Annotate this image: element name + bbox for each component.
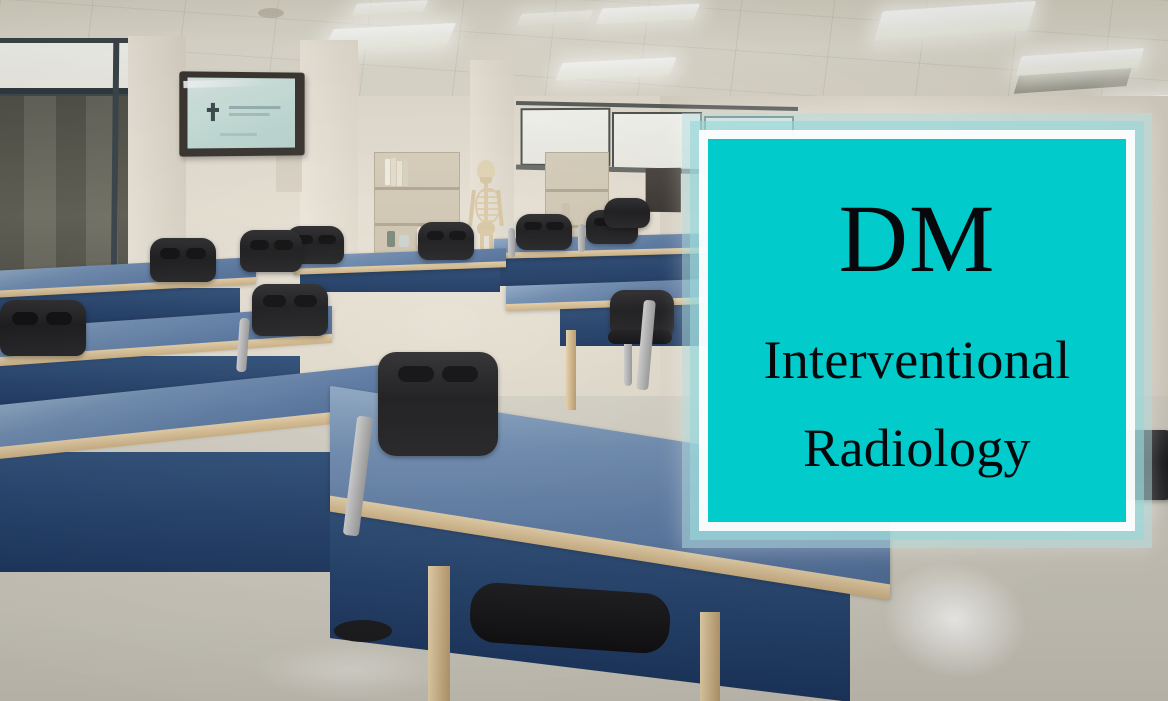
- screenshot-root: DM Interventional Radiology: [0, 0, 1168, 701]
- shelf-board: [546, 189, 608, 192]
- wall-speaker: [646, 168, 681, 213]
- container: [387, 231, 395, 247]
- chair-mesh-opening: [160, 248, 180, 259]
- desk-leg: [700, 612, 720, 701]
- chair-mesh-opening: [250, 240, 269, 250]
- chair-mesh-opening: [12, 312, 38, 325]
- container: [399, 235, 409, 247]
- chair-mesh-opening: [524, 222, 542, 230]
- chair-frame: [508, 228, 515, 258]
- monitor-text-line: [220, 133, 257, 136]
- cross-logo-icon: [207, 103, 219, 121]
- monitor-screen: [188, 77, 295, 148]
- title-card-fill: DM Interventional Radiology: [708, 139, 1126, 522]
- book: [397, 161, 402, 186]
- chair-backrest: [604, 198, 650, 228]
- desk-leg: [566, 330, 576, 410]
- chair-mesh-opening: [398, 366, 434, 382]
- jaw: [480, 177, 492, 184]
- chair-mesh-opening: [449, 231, 466, 240]
- chair-backrest: [150, 238, 216, 282]
- title-card-outer-band: DM Interventional Radiology: [690, 121, 1144, 540]
- book: [403, 159, 408, 186]
- monitor-text-line: [229, 113, 270, 116]
- chair-mesh-opening: [318, 235, 336, 244]
- desk-leg: [428, 566, 450, 701]
- chair-backrest: [240, 230, 302, 272]
- title-card-white-ring: DM Interventional Radiology: [699, 130, 1135, 531]
- shelf-board: [375, 187, 459, 190]
- book: [391, 158, 396, 186]
- chair-mesh-opening: [46, 312, 72, 325]
- chair-mesh-opening: [442, 366, 478, 382]
- wall-monitor: [179, 71, 304, 156]
- course-name-line-2: Radiology: [708, 421, 1126, 475]
- title-card: DM Interventional Radiology: [682, 113, 1152, 548]
- chair-mesh-opening: [274, 240, 293, 250]
- chair-mesh-opening: [294, 295, 317, 307]
- chair-mesh-opening: [427, 231, 444, 240]
- desk-modesty-panel: [0, 452, 340, 572]
- book: [385, 159, 390, 185]
- monitor-text-line: [229, 106, 280, 109]
- chair-backrest: [378, 352, 498, 456]
- course-name-line-1: Interventional: [708, 333, 1126, 387]
- chair-mesh-opening: [263, 295, 286, 307]
- chair-backrest: [0, 300, 86, 356]
- chair-mesh-opening: [546, 222, 564, 230]
- chair-frame: [578, 224, 585, 252]
- chair-backrest: [252, 284, 328, 336]
- smoke-detector-icon: [258, 8, 284, 18]
- chair-mesh-opening: [186, 248, 206, 259]
- chair-base: [334, 620, 392, 642]
- chair-backrest: [516, 214, 572, 250]
- course-degree-title: DM: [708, 191, 1126, 287]
- arm-bone: [496, 190, 504, 226]
- chair-backrest: [418, 222, 474, 260]
